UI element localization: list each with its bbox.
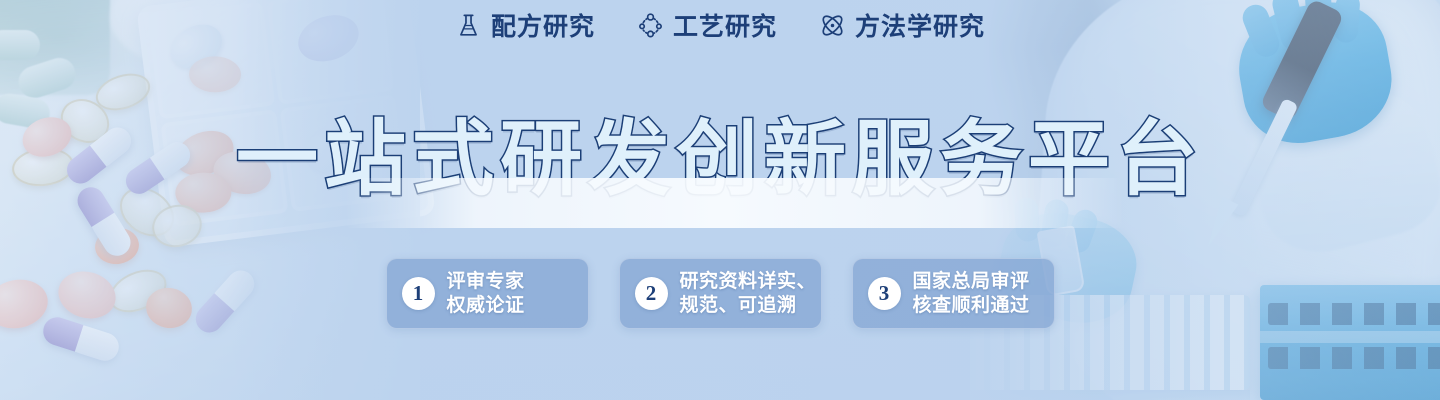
service-item-process[interactable]: 工艺研究 <box>637 7 777 43</box>
card-line-2: 权威论证 <box>447 294 525 318</box>
feature-card-2[interactable]: 2 研究资料详实、 规范、可追溯 <box>619 258 822 329</box>
banner-content: 一站式研发创新服务平台 配方研究 <box>0 0 1440 400</box>
card-line-1: 研究资料详实、 <box>680 270 817 294</box>
molecule-icon <box>637 12 664 39</box>
atom-icon <box>819 12 846 39</box>
promo-banner: 一站式研发创新服务平台 配方研究 <box>0 0 1440 400</box>
card-number-badge: 2 <box>635 277 668 310</box>
feature-card-1[interactable]: 1 评审专家 权威论证 <box>386 258 589 329</box>
services-list: 配方研究 工艺研究 <box>0 0 1440 50</box>
services-band <box>0 178 1440 228</box>
card-text: 评审专家 权威论证 <box>447 270 525 318</box>
feature-card-3[interactable]: 3 国家总局审评 核查顺利通过 <box>852 258 1055 329</box>
feature-cards: 1 评审专家 权威论证 2 研究资料详实、 规范、可追溯 3 国家总局审评 核查… <box>0 258 1440 329</box>
card-line-1: 评审专家 <box>447 270 525 294</box>
service-item-methodology[interactable]: 方法学研究 <box>819 7 985 43</box>
card-line-1: 国家总局审评 <box>913 270 1030 294</box>
card-line-2: 核查顺利通过 <box>913 294 1030 318</box>
flask-icon <box>455 12 482 39</box>
service-item-formulation[interactable]: 配方研究 <box>455 7 595 43</box>
service-label: 方法学研究 <box>855 7 985 43</box>
service-label: 配方研究 <box>491 7 595 43</box>
card-line-2: 规范、可追溯 <box>680 294 817 318</box>
card-number-badge: 1 <box>402 277 435 310</box>
card-text: 研究资料详实、 规范、可追溯 <box>680 270 817 318</box>
card-number-badge: 3 <box>868 277 901 310</box>
service-label: 工艺研究 <box>673 7 777 43</box>
card-text: 国家总局审评 核查顺利通过 <box>913 270 1030 318</box>
